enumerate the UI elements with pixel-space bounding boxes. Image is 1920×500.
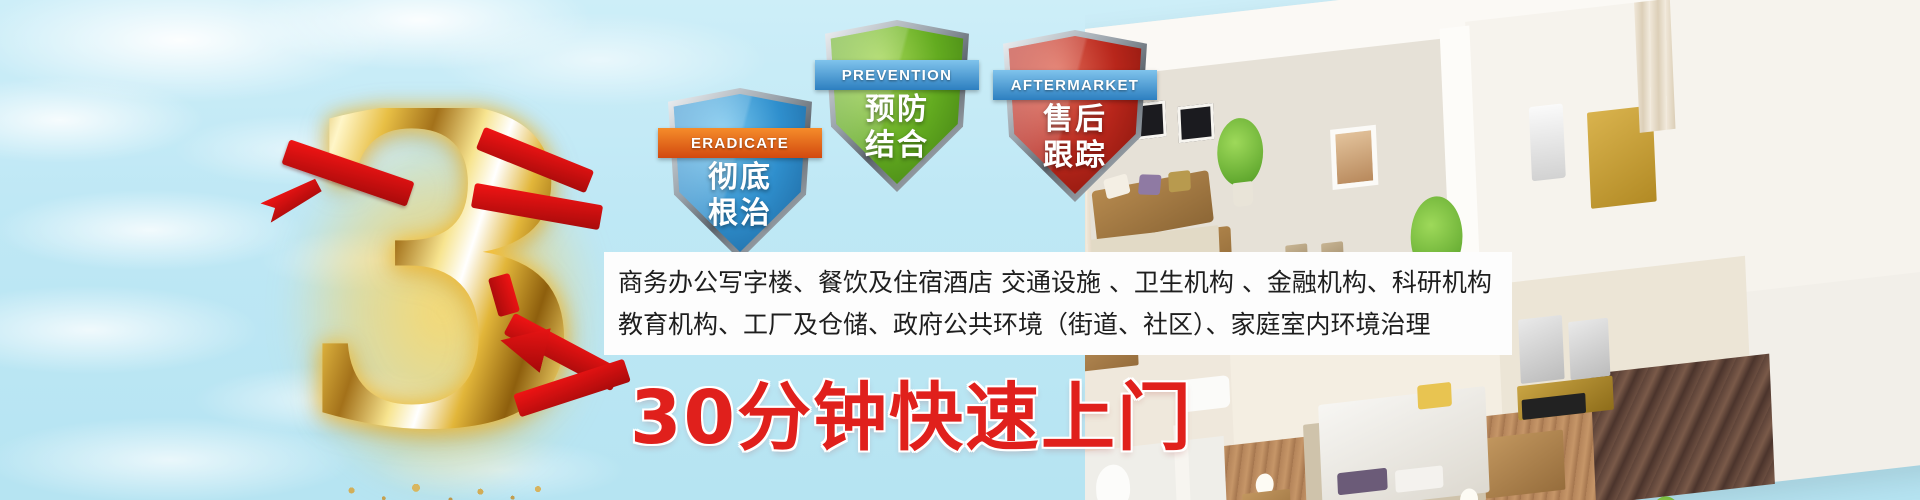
shield-ribbon-banner: ERADICATE bbox=[658, 128, 822, 158]
promo-headline: 30分钟快速上门 bbox=[630, 358, 1193, 465]
badge-chinese-line1: 彻底 bbox=[665, 160, 815, 196]
range-hood bbox=[1529, 103, 1566, 181]
shield-ribbon-banner: AFTERMARKET bbox=[993, 70, 1157, 100]
apartment-floorplate bbox=[1085, 0, 1920, 500]
marble-hallway-floor bbox=[1590, 354, 1775, 500]
badge-chinese-text: 售后 跟踪 bbox=[1000, 102, 1150, 174]
curtain-right bbox=[1634, 0, 1675, 133]
wall-art-right bbox=[1177, 103, 1214, 143]
badge-chinese-line2: 根治 bbox=[665, 196, 815, 232]
badge-chinese-line1: 售后 bbox=[1000, 102, 1150, 138]
service-scope-panel: 商务办公写字楼、餐饮及住宿酒店 交通设施 、卫生机构 、金融机构、科研机构 教育… bbox=[604, 252, 1512, 355]
plant-pot-1 bbox=[1233, 181, 1254, 207]
service-scope-line-1: 商务办公写字楼、餐饮及住宿酒店 交通设施 、卫生机构 、金融机构、科研机构 bbox=[618, 262, 1498, 304]
promo-banner: 3 ERADICATE 彻底 根治 PREVENTION 预防 结合 bbox=[0, 0, 1920, 500]
badge-chinese-line1: 预防 bbox=[822, 92, 972, 128]
sofa-cushion-3 bbox=[1168, 170, 1191, 193]
badge-english-label: AFTERMARKET bbox=[1011, 77, 1139, 94]
badge-chinese-text: 彻底 根治 bbox=[665, 160, 815, 232]
bed-throw bbox=[1417, 382, 1452, 410]
gold-dust-particles bbox=[324, 480, 554, 500]
badge-eradicate: ERADICATE 彻底 根治 bbox=[665, 88, 815, 260]
badge-english-label: PREVENTION bbox=[842, 67, 953, 84]
badge-prevention: PREVENTION 预防 结合 bbox=[822, 20, 972, 192]
badge-aftermarket: AFTERMARKET 售后 跟踪 bbox=[1000, 30, 1150, 202]
badge-english-label: ERADICATE bbox=[691, 135, 789, 152]
service-scope-line-2: 教育机构、工厂及仓储、政府公共环境（街道、社区）、家庭室内环境治理 bbox=[618, 304, 1498, 346]
base-cabinet bbox=[1483, 429, 1565, 498]
apartment-3d-render bbox=[1085, 0, 1920, 500]
oven bbox=[1518, 315, 1565, 384]
wall-portrait bbox=[1330, 125, 1378, 190]
shield-ribbon-banner: PREVENTION bbox=[815, 60, 979, 90]
badge-chinese-line2: 结合 bbox=[822, 128, 972, 164]
microwave bbox=[1568, 318, 1610, 381]
badge-chinese-line2: 跟踪 bbox=[1000, 138, 1150, 174]
gold-numeral-3: 3 bbox=[262, 108, 622, 500]
badge-chinese-text: 预防 结合 bbox=[822, 92, 972, 164]
